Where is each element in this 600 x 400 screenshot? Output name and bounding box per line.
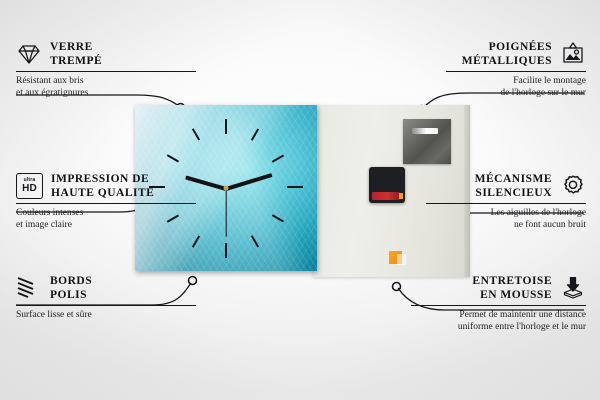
framed-picture-hanging-icon — [560, 41, 586, 67]
feature-divider — [16, 203, 196, 204]
feature-divider — [426, 203, 586, 204]
hands-pivot — [224, 186, 229, 191]
hatched-edge-icon — [16, 275, 42, 301]
feature-divider — [16, 305, 196, 306]
ultra-hd-icon: ultra HD — [16, 173, 43, 199]
feature-title: IMPRESSION DE HAUTE QUALITÉ — [51, 172, 154, 200]
feature-bords-polis: BORDS POLIS Surface lisse et sûre — [16, 274, 196, 321]
ultra-hd-icon-large-label: HD — [22, 184, 37, 194]
feature-title: POIGNÉES MÉTALLIQUES — [462, 40, 552, 68]
feature-description: Permet de maintenir une distance uniform… — [386, 309, 586, 333]
feature-header: VERRE TREMPÉ — [16, 40, 196, 68]
feature-divider — [446, 71, 586, 72]
feature-mecanisme-silencieux: MÉCANISME SILENCIEUX Les aiguilles de l'… — [396, 172, 586, 231]
feature-header: POIGNÉES MÉTALLIQUES — [396, 40, 586, 68]
infographic-canvas: VERRE TREMPÉ Résistant aux bris et aux é… — [0, 0, 600, 400]
feature-impression-haute-qualite: ultra HD IMPRESSION DE HAUTE QUALITÉ Cou… — [16, 172, 196, 231]
tick-6 — [225, 243, 227, 258]
feature-description: Résistant aux bris et aux égratignures — [16, 75, 196, 99]
arrow-on-pad-icon — [560, 275, 586, 301]
feature-verre-trempe: VERRE TREMPÉ Résistant aux bris et aux é… — [16, 40, 196, 99]
second-hand — [225, 189, 226, 237]
feature-header: BORDS POLIS — [16, 274, 196, 302]
foam-spacer — [389, 251, 402, 264]
feature-title: VERRE TREMPÉ — [50, 40, 102, 68]
feature-entretoise-en-mousse: ENTRETOISE EN MOUSSE Permet de maintenir… — [386, 274, 586, 333]
diamond-icon — [16, 41, 42, 67]
metal-hanger-plate — [403, 119, 451, 164]
feature-description: Facilite le montage de l'horloge sur le … — [396, 75, 586, 99]
feature-description: Surface lisse et sûre — [16, 309, 196, 321]
gear-icon — [560, 173, 586, 199]
feature-divider — [16, 71, 196, 72]
tick-12 — [225, 119, 227, 134]
feature-header: ENTRETOISE EN MOUSSE — [386, 274, 586, 302]
feature-poignees-metalliques: POIGNÉES MÉTALLIQUES Facilite le montage… — [396, 40, 586, 99]
feature-header: ultra HD IMPRESSION DE HAUTE QUALITÉ — [16, 172, 196, 200]
feature-description: Couleurs intenses et image claire — [16, 207, 196, 231]
feature-title: BORDS POLIS — [50, 274, 92, 302]
feature-description: Les aiguilles de l'horloge ne font aucun… — [396, 207, 586, 231]
tick-3 — [287, 186, 303, 188]
feature-header: MÉCANISME SILENCIEUX — [396, 172, 586, 200]
feature-title: ENTRETOISE EN MOUSSE — [472, 274, 552, 302]
feature-divider — [411, 305, 586, 306]
feature-title: MÉCANISME SILENCIEUX — [475, 172, 552, 200]
